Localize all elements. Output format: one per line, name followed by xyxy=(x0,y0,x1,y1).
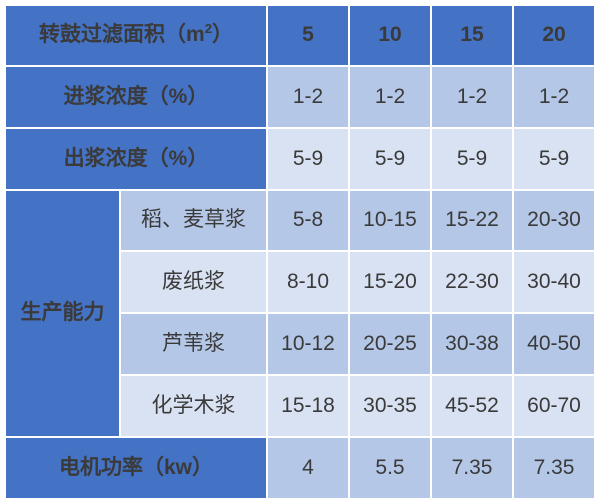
row-label-inlet-concentration: 进浆浓度（%） xyxy=(6,67,266,127)
cell-motorpower-4: 7.35 xyxy=(514,438,594,498)
cell-reed-1: 10-12 xyxy=(268,314,348,374)
cell-motorpower-3: 7.35 xyxy=(432,438,512,498)
cell-inlet-4: 1-2 xyxy=(514,67,594,127)
column-header-1: 5 xyxy=(268,6,348,65)
spec-table-container: 转鼓过滤面积（m2） 5 10 15 20 进浆浓度（%） 1-2 1-2 1-… xyxy=(0,0,608,504)
cell-inlet-2: 1-2 xyxy=(350,67,430,127)
cell-motorpower-2: 5.5 xyxy=(350,438,430,498)
cell-wastepaper-1: 8-10 xyxy=(268,252,348,312)
cell-woodpulp-4: 60-70 xyxy=(514,376,594,436)
header-title-text: 转鼓过滤面积（m2） xyxy=(39,23,233,46)
cell-straw-2: 10-15 xyxy=(350,191,430,251)
drum-filter-spec-table: 转鼓过滤面积（m2） 5 10 15 20 进浆浓度（%） 1-2 1-2 1-… xyxy=(4,4,596,500)
cell-straw-4: 20-30 xyxy=(514,191,594,251)
cell-wastepaper-2: 15-20 xyxy=(350,252,430,312)
table-row: 生产能力 稻、麦草浆 5-8 10-15 15-22 20-30 xyxy=(6,191,594,251)
header-title-superscript: 2 xyxy=(205,21,212,36)
cell-wastepaper-3: 22-30 xyxy=(432,252,512,312)
cell-outlet-3: 5-9 xyxy=(432,129,512,189)
cell-wastepaper-4: 30-40 xyxy=(514,252,594,312)
sublabel-waste-paper-pulp: 废纸浆 xyxy=(121,252,266,312)
table-row: 电机功率（kw） 4 5.5 7.35 7.35 xyxy=(6,438,594,498)
column-header-2: 10 xyxy=(350,6,430,65)
header-title-cell: 转鼓过滤面积（m2） xyxy=(6,6,266,65)
column-header-4: 20 xyxy=(514,6,594,65)
cell-woodpulp-1: 15-18 xyxy=(268,376,348,436)
cell-outlet-2: 5-9 xyxy=(350,129,430,189)
cell-reed-4: 40-50 xyxy=(514,314,594,374)
cell-reed-3: 30-38 xyxy=(432,314,512,374)
cell-inlet-3: 1-2 xyxy=(432,67,512,127)
sublabel-chemical-wood-pulp: 化学木浆 xyxy=(121,376,266,436)
cell-woodpulp-3: 45-52 xyxy=(432,376,512,436)
row-label-outlet-concentration: 出浆浓度（%） xyxy=(6,129,266,189)
column-header-3: 15 xyxy=(432,6,512,65)
sublabel-reed-pulp: 芦苇浆 xyxy=(121,314,266,374)
cell-outlet-1: 5-9 xyxy=(268,129,348,189)
table-header-row: 转鼓过滤面积（m2） 5 10 15 20 xyxy=(6,6,594,65)
table-row: 进浆浓度（%） 1-2 1-2 1-2 1-2 xyxy=(6,67,594,127)
cell-woodpulp-2: 30-35 xyxy=(350,376,430,436)
cell-outlet-4: 5-9 xyxy=(514,129,594,189)
sublabel-rice-wheat-straw-pulp: 稻、麦草浆 xyxy=(121,191,266,251)
cell-reed-2: 20-25 xyxy=(350,314,430,374)
group-label-production-capacity: 生产能力 xyxy=(6,191,119,437)
cell-straw-3: 15-22 xyxy=(432,191,512,251)
cell-straw-1: 5-8 xyxy=(268,191,348,251)
row-label-motor-power: 电机功率（kw） xyxy=(6,438,266,498)
cell-inlet-1: 1-2 xyxy=(268,67,348,127)
table-row: 出浆浓度（%） 5-9 5-9 5-9 5-9 xyxy=(6,129,594,189)
cell-motorpower-1: 4 xyxy=(268,438,348,498)
